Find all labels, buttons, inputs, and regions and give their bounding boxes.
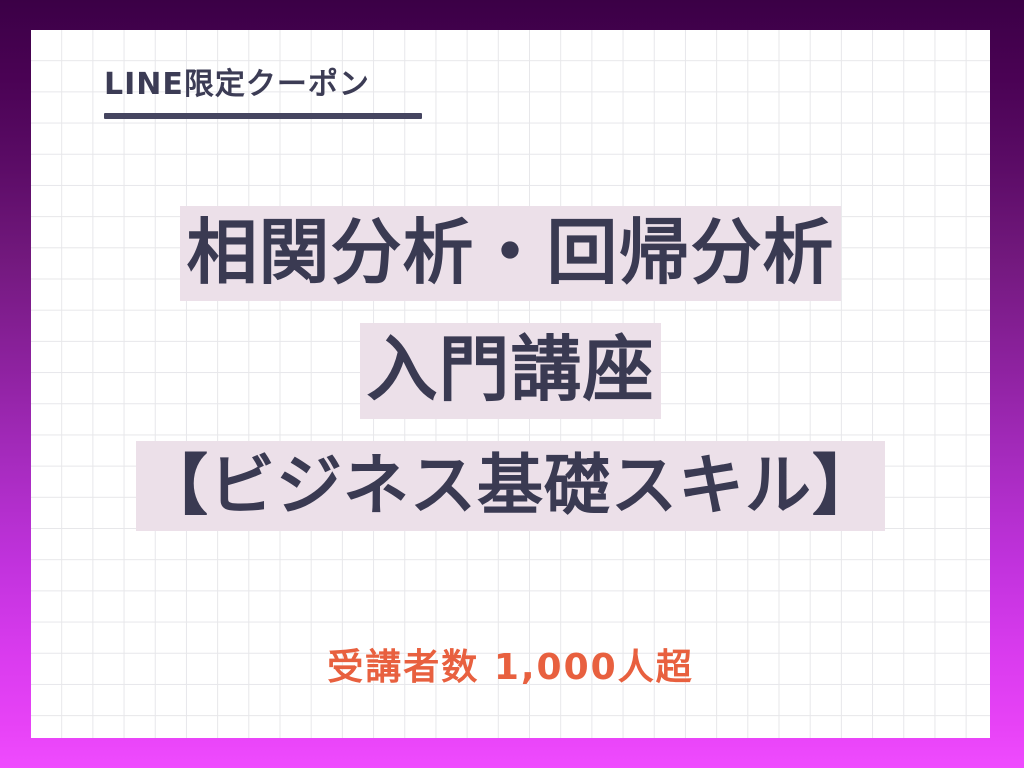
title-line-2: 入門講座	[31, 323, 990, 418]
poster-root: LINE限定クーポン 相関分析・回帰分析 入門講座 【ビジネス基礎スキル】 受講…	[0, 0, 1024, 768]
eyebrow-block: LINE限定クーポン	[104, 68, 524, 119]
enrollment-count-label: 受講者数 1,000人超	[31, 638, 990, 690]
title-line-3-text: 【ビジネス基礎スキル】	[136, 441, 885, 531]
title-line-1-text: 相関分析・回帰分析	[180, 206, 840, 301]
eyebrow-underline	[104, 113, 422, 119]
title-block: 相関分析・回帰分析 入門講座 【ビジネス基礎スキル】	[31, 206, 990, 531]
eyebrow-label: LINE限定クーポン	[104, 68, 524, 103]
title-line-3: 【ビジネス基礎スキル】	[31, 441, 990, 531]
white-card: LINE限定クーポン 相関分析・回帰分析 入門講座 【ビジネス基礎スキル】 受講…	[31, 30, 990, 738]
title-line-1: 相関分析・回帰分析	[31, 206, 990, 301]
title-line-2-text: 入門講座	[360, 323, 660, 418]
